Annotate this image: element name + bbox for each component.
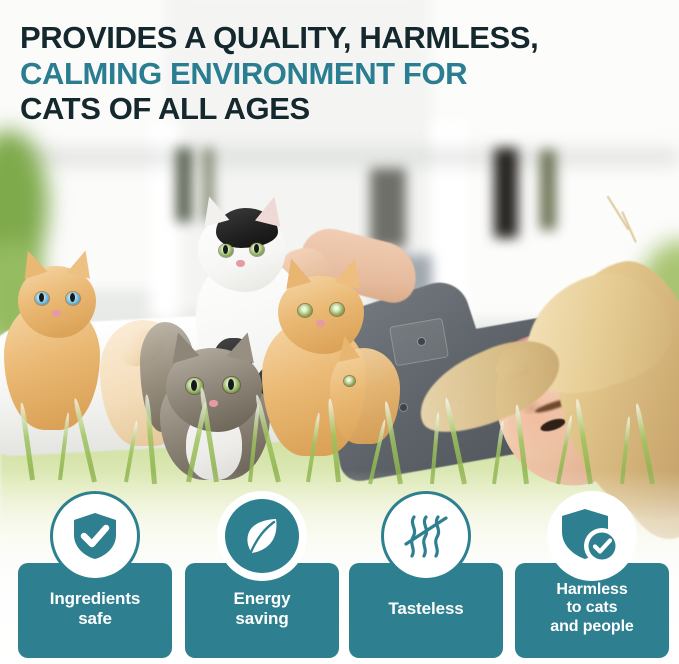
bw-kitten-nose [236,260,245,267]
headline-line-3: CATS OF ALL AGES [20,93,660,125]
ginger-kitten-nose [316,320,325,327]
tabby-kitten-pupil-left [191,380,197,391]
feature-label: Energysaving [233,589,290,628]
orange-kitten-pupil-right [70,293,75,302]
house-window-4 [494,148,518,238]
product-feature-poster: PROVIDES A QUALITY, HARMLESS, CALMING EN… [0,0,679,664]
feature-label: Tasteless [388,599,463,619]
shield-badge-check-icon [547,491,637,581]
woman-shirt-button-1 [418,338,425,345]
page-title: PROVIDES A QUALITY, HARMLESS, CALMING EN… [20,22,660,125]
ginger2-kitten-eye [344,376,355,386]
leaf-icon [217,491,307,581]
feature-label: Harmlessto catsand people [550,581,633,637]
headline-line-1: PROVIDES A QUALITY, HARMLESS, [20,22,660,54]
orange-kitten-pupil-left [39,293,44,302]
no-odor-icon [381,491,471,581]
ginger-kitten-eye-left [298,304,312,317]
ginger-kitten-eye-right [330,303,344,316]
house-window-3 [370,168,406,248]
house-window-1 [176,148,192,222]
woman-shirt-button-2 [400,404,407,411]
ginger2-kitten-ear [334,334,361,362]
house-eave-shadow [0,150,679,164]
shield-check-icon [50,491,140,581]
headline-line-2: CALMING ENVIRONMENT FOR [20,58,660,90]
tabby-kitten-nose [209,400,218,407]
orange-kitten-nose [52,310,61,317]
feature-label: Ingredientssafe [50,589,141,628]
bw-kitten-pupil-right [254,244,259,253]
house-window-5 [540,150,556,230]
tabby-kitten-pupil-right [228,379,234,390]
bw-kitten-pupil-left [223,245,228,254]
